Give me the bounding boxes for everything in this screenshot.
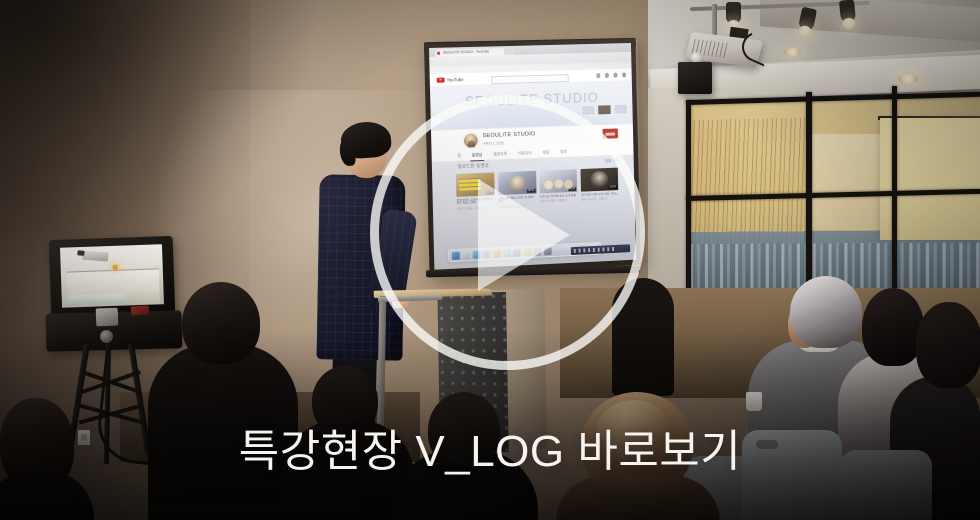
mirror-reflection-projector bbox=[82, 251, 109, 262]
downlight-icon bbox=[784, 48, 801, 57]
mirror-reflection-ledge bbox=[68, 294, 126, 306]
video-caption: 특강현장 V_LOG 바로보기 bbox=[0, 424, 980, 480]
audience-head bbox=[916, 302, 980, 388]
youtube-header-actions bbox=[596, 72, 626, 77]
window-mullion bbox=[892, 86, 897, 290]
youtube-logo-icon[interactable] bbox=[437, 77, 445, 83]
create-video-icon[interactable] bbox=[596, 73, 600, 78]
youtube-logo-text: YouTube bbox=[447, 77, 464, 82]
window-mullion bbox=[806, 92, 812, 290]
audience-head bbox=[862, 288, 924, 366]
track-light-icon bbox=[839, 0, 856, 23]
play-triangle-icon bbox=[478, 179, 570, 291]
apps-grid-icon[interactable] bbox=[605, 73, 609, 78]
coffee-cup bbox=[746, 392, 762, 411]
wall-speaker bbox=[678, 62, 712, 94]
downlight-icon bbox=[898, 74, 918, 84]
camera-case-knob bbox=[100, 330, 113, 343]
camera-case-mirror bbox=[60, 244, 164, 308]
account-avatar-icon[interactable] bbox=[622, 72, 626, 77]
window-mullion bbox=[686, 100, 691, 290]
audience-head bbox=[182, 282, 260, 364]
camera-case-latch bbox=[96, 308, 119, 327]
video-thumbnail: SEOULITE STUDIO - YouTube https://www.yo… bbox=[0, 0, 980, 520]
play-button[interactable] bbox=[370, 95, 645, 370]
audience-head bbox=[790, 276, 862, 348]
projector-mount-pole bbox=[712, 4, 717, 38]
camera-case-red-accessory bbox=[131, 305, 150, 315]
notifications-bell-icon[interactable] bbox=[613, 73, 617, 78]
track-light-icon bbox=[726, 2, 741, 24]
browser-new-tab-button[interactable] bbox=[504, 48, 514, 55]
